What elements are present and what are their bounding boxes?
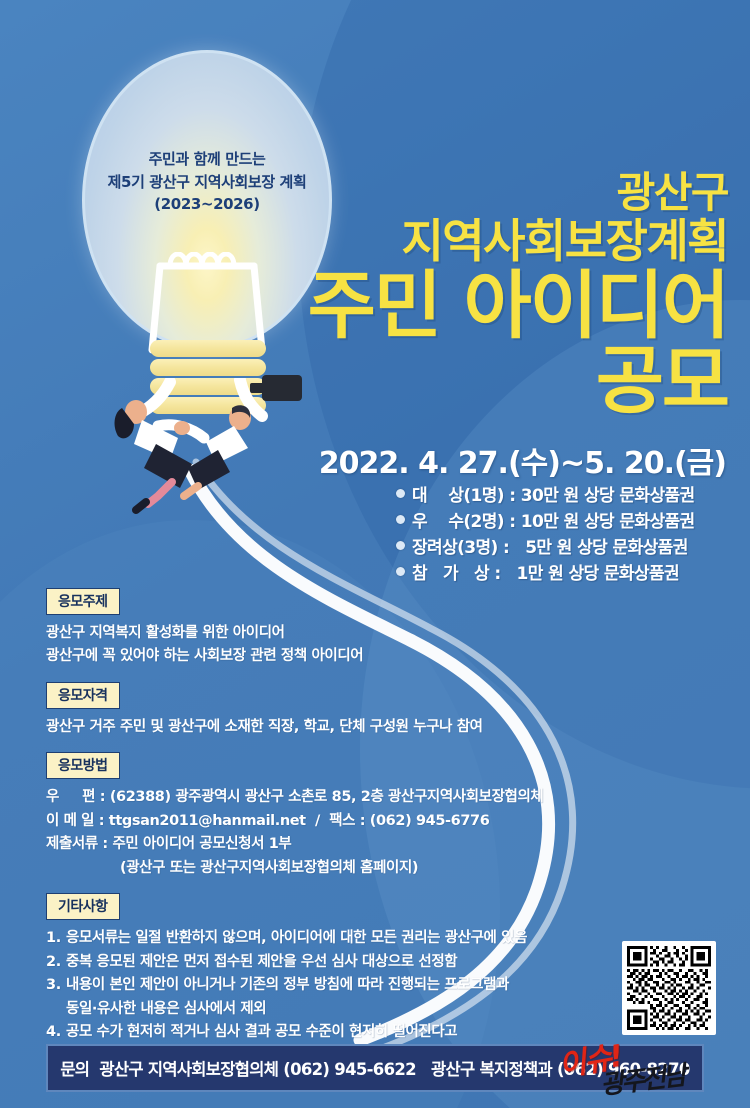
- note-text-main: 내용이 본인 제안이 아니거나 기존의 정부 방침에 따라 진행되는 프로그램과: [66, 977, 509, 993]
- note-item: 2. 중복 응모된 제안은 먼저 접수된 제안을 우선 심사 대상으로 선정함: [46, 951, 606, 974]
- howto-docs-subline: (광산구 또는 광산구지역사회보장협의체 홈페이지): [46, 857, 606, 880]
- bullet-dot-icon: [396, 515, 405, 524]
- headline-line-2: 지역사회보장계획: [248, 217, 728, 267]
- note-number: 1.: [46, 927, 66, 950]
- section-eligibility-body: 광산구 거주 주민 및 광산구에 소재한 직장, 학교, 단체 구성원 누구나 …: [46, 716, 606, 739]
- section-eligibility: 응모자격 광산구 거주 주민 및 광산구에 소재한 직장, 학교, 단체 구성원…: [46, 682, 606, 739]
- prize-item: 장려상(3명) : 5만 원 상당 문화상품권: [396, 532, 726, 558]
- howto-mail-line: 우 편 : (62388) 광주광역시 광산구 소촌로 85, 2층 광산구지역…: [46, 786, 606, 809]
- section-howto: 응모방법 우 편 : (62388) 광주광역시 광산구 소촌로 85, 2층 …: [46, 752, 606, 880]
- note-text-main: 공모 수가 현저히 적거나 심사 결과 공모 수준이 현저히 떨어진다고: [66, 1024, 457, 1040]
- note-item: 3. 내용이 본인 제안이 아니거나 기존의 정부 방침에 따라 진행되는 프로…: [46, 974, 606, 1021]
- qr-code[interactable]: [622, 941, 716, 1035]
- note-item: 1. 응모서류는 일절 반환하지 않으며, 아이디어에 대한 모든 권리는 광산…: [46, 927, 606, 950]
- section-howto-badge: 응모방법: [46, 752, 120, 779]
- note-number: 3.: [46, 974, 66, 1021]
- note-text: 내용이 본인 제안이 아니거나 기존의 정부 방침에 따라 진행되는 프로그램과…: [66, 974, 606, 1021]
- qr-code-image: [627, 946, 711, 1030]
- prize-item: 우 수(2명) : 10만 원 상당 문화상품권: [396, 506, 726, 532]
- section-notes-badge: 기타사항: [46, 893, 120, 920]
- prize-text: 대 상(1명) : 30만 원 상당 문화상품권: [412, 481, 726, 506]
- prize-text: 우 수(2명) : 10만 원 상당 문화상품권: [412, 507, 726, 532]
- section-topic-badge: 응모주제: [46, 588, 120, 615]
- prize-item: 참 가 상 : 1만 원 상당 문화상품권: [396, 558, 726, 584]
- section-notes: 기타사항 1. 응모서류는 일절 반환하지 않으며, 아이디어에 대한 모든 권…: [46, 893, 606, 1068]
- footer-contact-text: 문의 광산구 지역사회보장협의체 (062) 945-6622 광산구 복지정책…: [60, 1056, 689, 1080]
- prize-text: 장려상(3명) : 5만 원 상당 문화상품권: [412, 533, 726, 558]
- headline-line-1: 광산구: [248, 172, 728, 215]
- info-column: 응모주제 광산구 지역복지 활성화를 위한 아이디어 광산구에 꼭 있어야 하는…: [46, 588, 606, 1081]
- prize-item: 대 상(1명) : 30만 원 상당 문화상품권: [396, 480, 726, 506]
- note-text: 응모서류는 일절 반환하지 않으며, 아이디어에 대한 모든 권리는 광산구에 …: [66, 927, 606, 950]
- section-topic-body: 광산구 지역복지 활성화를 위한 아이디어 광산구에 꼭 있어야 하는 사회보장…: [46, 622, 606, 669]
- eligibility-line: 광산구 거주 주민 및 광산구에 소재한 직장, 학교, 단체 구성원 누구나 …: [46, 716, 606, 739]
- prize-text: 참 가 상 : 1만 원 상당 문화상품권: [412, 559, 726, 584]
- howto-docs-line: 제출서류 : 주민 아이디어 공모신청서 1부: [46, 833, 606, 856]
- poster-canvas: 주민과 함께 만드는 제5기 광산구 지역사회보장 계획 (2023~2026): [0, 0, 750, 1108]
- section-eligibility-badge: 응모자격: [46, 682, 120, 709]
- bullet-dot-icon: [396, 541, 405, 550]
- note-text-continued: 동일·유사한 내용은 심사에서 제외: [66, 998, 606, 1021]
- note-number: 2.: [46, 951, 66, 974]
- topic-line: 광산구에 꼭 있어야 하는 사회보장 관련 정책 아이디어: [46, 645, 606, 668]
- submission-period: 2022. 4. 27.(수)~5. 20.(금): [319, 438, 726, 482]
- bulb-caption-line1: 주민과 함께 만드는: [88, 148, 326, 171]
- note-text: 중복 응모된 제안은 먼저 접수된 제안을 우선 심사 대상으로 선정함: [66, 951, 606, 974]
- prize-list: 대 상(1명) : 30만 원 상당 문화상품권 우 수(2명) : 10만 원…: [396, 480, 726, 584]
- topic-line: 광산구 지역복지 활성화를 위한 아이디어: [46, 622, 606, 645]
- poster-headline: 광산구 지역사회보장계획 주민 아이디어 공모: [248, 172, 728, 419]
- section-topic: 응모주제 광산구 지역복지 활성화를 위한 아이디어 광산구에 꼭 있어야 하는…: [46, 588, 606, 669]
- bullet-dot-icon: [396, 567, 405, 576]
- footer-contact-bar: 문의 광산구 지역사회보장협의체 (062) 945-6622 광산구 복지정책…: [46, 1044, 704, 1092]
- headline-line-3: 주민 아이디어: [248, 269, 728, 344]
- section-howto-body: 우 편 : (62388) 광주광역시 광산구 소촌로 85, 2층 광산구지역…: [46, 786, 606, 880]
- headline-line-4: 공모: [248, 344, 728, 419]
- bullet-dot-icon: [396, 489, 405, 498]
- howto-email-line: 이 메 일 : ttgsan2011@hanmail.net / 팩스 : (0…: [46, 810, 606, 833]
